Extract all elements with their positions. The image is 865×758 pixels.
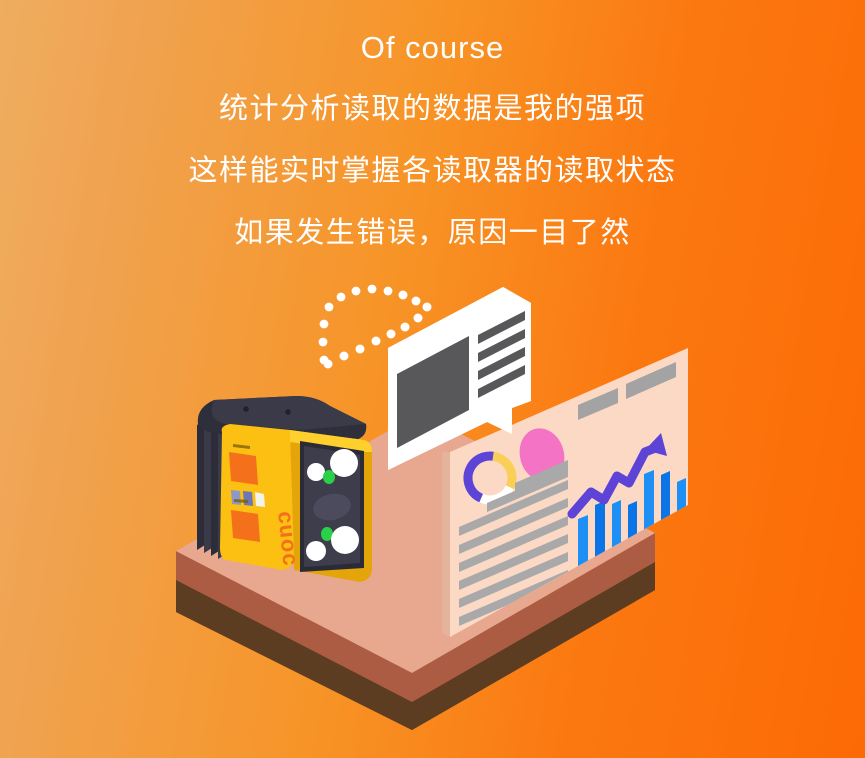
camera-lens-panel	[300, 441, 364, 572]
led-bottom-left	[306, 541, 326, 561]
led-top-left	[307, 463, 325, 481]
camera-port-top	[229, 452, 258, 485]
led-bottom-right	[331, 526, 359, 554]
illustration-banner: cuoc	[0, 0, 865, 758]
camera-port-bottom	[231, 510, 260, 542]
vision-camera: cuoc	[197, 396, 372, 582]
indicator-top	[323, 470, 335, 484]
dashboard-panel-side	[442, 452, 450, 637]
illustration-canvas: cuoc	[0, 0, 865, 758]
led-top-right	[330, 449, 358, 477]
